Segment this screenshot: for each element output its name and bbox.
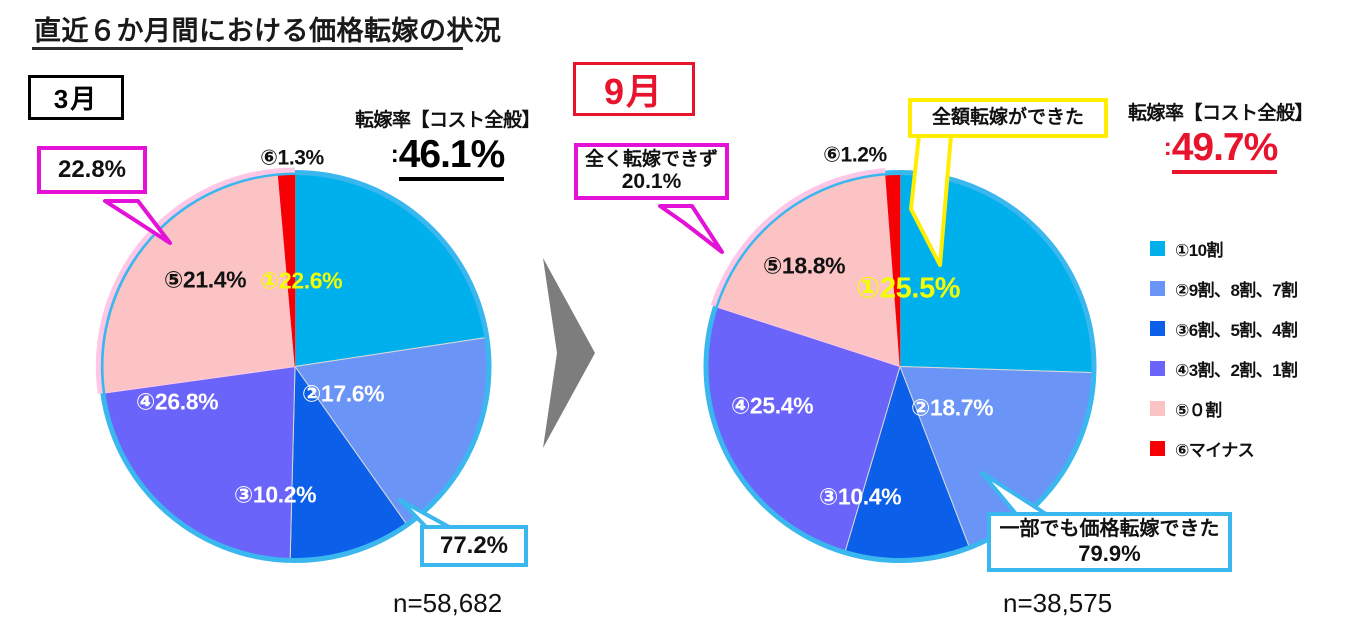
pie-label-5-september: ⑤18.8%	[763, 253, 845, 280]
rate-colon-september: :	[1164, 134, 1172, 161]
legend-item-2: ②9割、8割、7割	[1150, 268, 1346, 308]
title-underline	[32, 47, 463, 50]
callout-partial-september-line1: 一部でも価格転嫁できた	[1000, 518, 1220, 541]
pie-label-2-september: ②18.7%	[911, 395, 993, 422]
rate-colon-march: :	[391, 141, 399, 168]
rate-headline-september: 転嫁率【コスト全般】 :49.7%	[1128, 98, 1313, 170]
chart-page: 直近６か月間における価格転嫁の状況 3月 9月 転嫁率【コスト全般】 :46.1…	[0, 0, 1349, 634]
pie-chart-september: ①25.5% ②18.7% ③10.4% ④25.4% ⑤18.8%	[700, 170, 1100, 563]
legend-item-4: ④3割、2割、1割	[1150, 348, 1346, 388]
legend-item-5: ⑤０割	[1150, 388, 1346, 428]
legend: ①10割 ②9割、8割、7割 ③6割、5割、4割 ④3割、2割、1割 ⑤０割 ⑥…	[1150, 228, 1346, 468]
pie-label-6-september: ⑥1.2%	[823, 143, 887, 168]
callout-zero-september-line1: 全く転嫁できず	[585, 149, 718, 171]
legend-item-6: ⑥マイナス	[1150, 428, 1346, 468]
rate-value-september: 49.7%	[1172, 126, 1278, 174]
legend-item-3: ③6割、5割、4割	[1150, 308, 1346, 348]
rate-value-row-september: :49.7%	[1128, 126, 1313, 170]
pie-chart-march: ①22.6% ②17.6% ③10.2% ④26.8% ⑤21.4%	[95, 170, 495, 563]
legend-swatch-3-icon	[1150, 321, 1165, 336]
pie-label-5-march: ⑤21.4%	[164, 267, 246, 294]
legend-swatch-5-icon	[1150, 401, 1165, 416]
pie-label-4-march: ④26.8%	[136, 389, 218, 416]
callout-zero-september-line2: 20.1%	[622, 170, 682, 194]
legend-label-2: ②9割、8割、7割	[1175, 276, 1297, 301]
legend-swatch-6-icon	[1150, 441, 1165, 456]
legend-label-5: ⑤０割	[1175, 396, 1222, 421]
callout-partial-september: 一部でも価格転嫁できた 79.9%	[987, 512, 1232, 572]
page-title: 直近６か月間における価格転嫁の状況	[34, 9, 502, 48]
sample-size-september: n=38,575	[1003, 588, 1112, 619]
legend-swatch-2-icon	[1150, 281, 1165, 296]
legend-label-3: ③6割、5割、4割	[1175, 316, 1297, 341]
pie-label-6-march: ⑥1.3%	[260, 146, 324, 171]
pie-label-2-march: ②17.6%	[302, 381, 384, 408]
rate-caption-march: 転嫁率【コスト全般】	[355, 105, 540, 132]
legend-swatch-4-icon	[1150, 361, 1165, 376]
pie-label-3-september: ③10.4%	[819, 484, 901, 511]
pie-label-3-march: ③10.2%	[234, 482, 316, 509]
callout-zero-september: 全く転嫁できず 20.1%	[574, 143, 729, 200]
legend-label-4: ④3割、2割、1割	[1175, 356, 1297, 381]
legend-swatch-1-icon	[1150, 241, 1165, 256]
callout-partial-march: 77.2%	[420, 525, 528, 567]
pie-label-4-september: ④25.4%	[731, 393, 813, 420]
sample-size-march: n=58,682	[393, 588, 502, 619]
legend-item-1: ①10割	[1150, 228, 1346, 268]
pie-label-1-march: ①22.6%	[260, 268, 342, 295]
callout-partial-september-line2: 79.9%	[1078, 541, 1140, 566]
callout-zero-march: 22.8%	[37, 146, 147, 194]
legend-label-6: ⑥マイナス	[1175, 436, 1254, 461]
callout-full-september: 全額転嫁ができた	[908, 98, 1108, 138]
rate-caption-september: 転嫁率【コスト全般】	[1128, 98, 1313, 125]
month-badge-march: 3月	[28, 75, 124, 120]
transition-arrow-icon	[543, 258, 595, 448]
legend-label-1: ①10割	[1175, 236, 1223, 261]
rate-headline-march: 転嫁率【コスト全般】 :46.1%	[355, 105, 540, 177]
month-badge-september: 9月	[573, 62, 695, 116]
pie-label-1-september: ①25.5%	[856, 271, 960, 306]
